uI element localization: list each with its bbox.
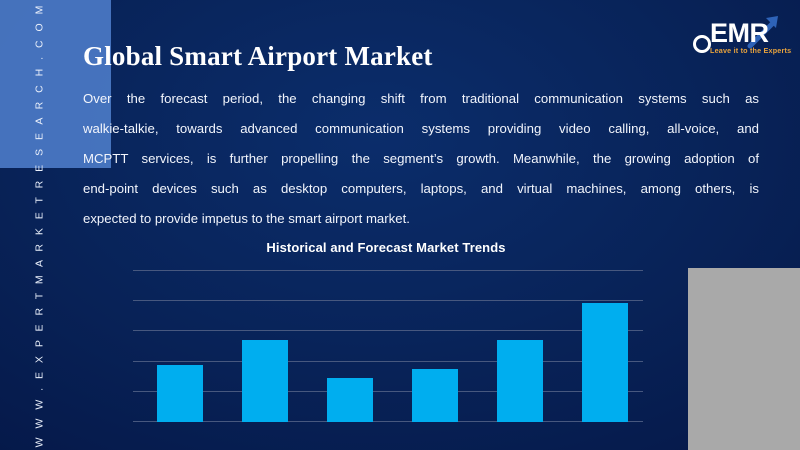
chart-bar [242, 340, 288, 422]
chart-gridline [133, 391, 643, 392]
paragraph-line: expected to provide impetus to the smart… [83, 204, 759, 234]
chart-bar [157, 365, 203, 422]
paragraph-line: walkie-talkie, towards advanced communic… [83, 114, 759, 144]
emr-logo-icon: EMR Leave it to the Experts! [688, 6, 792, 58]
gray-panel [688, 268, 800, 450]
vertical-website-url: W W W . E X P E R T M A R K E T R E S E … [27, 0, 51, 450]
chart-plot-area [133, 270, 643, 422]
paragraph-line: end-point devices such as desktop comput… [83, 174, 759, 204]
chart-gridline [133, 421, 643, 422]
slide-canvas: W W W . E X P E R T M A R K E T R E S E … [0, 0, 800, 450]
chart-title: Historical and Forecast Market Trends [130, 240, 642, 255]
chart-bar [497, 340, 543, 422]
emr-logo[interactable]: EMR Leave it to the Experts! [688, 6, 792, 58]
page-title: Global Smart Airport Market [83, 42, 433, 70]
chart-gridline [133, 270, 643, 271]
chart-bar [327, 378, 373, 422]
chart-bar [582, 303, 628, 422]
body-paragraph: Over the forecast period, the changing s… [83, 84, 759, 234]
chart-gridline [133, 330, 643, 331]
svg-text:EMR: EMR [710, 18, 769, 48]
vertical-website-url-text: W W W . E X P E R T M A R K E T R E S E … [33, 3, 45, 448]
chart-bar [412, 369, 458, 422]
paragraph-line: MCPTT services, is further propelling th… [83, 144, 759, 174]
emr-logo-tagline: Leave it to the Experts! [710, 46, 792, 55]
paragraph-line: Over the forecast period, the changing s… [83, 84, 759, 114]
chart-gridline [133, 361, 643, 362]
chart-gridline [133, 300, 643, 301]
market-trends-bar-chart [133, 270, 643, 428]
